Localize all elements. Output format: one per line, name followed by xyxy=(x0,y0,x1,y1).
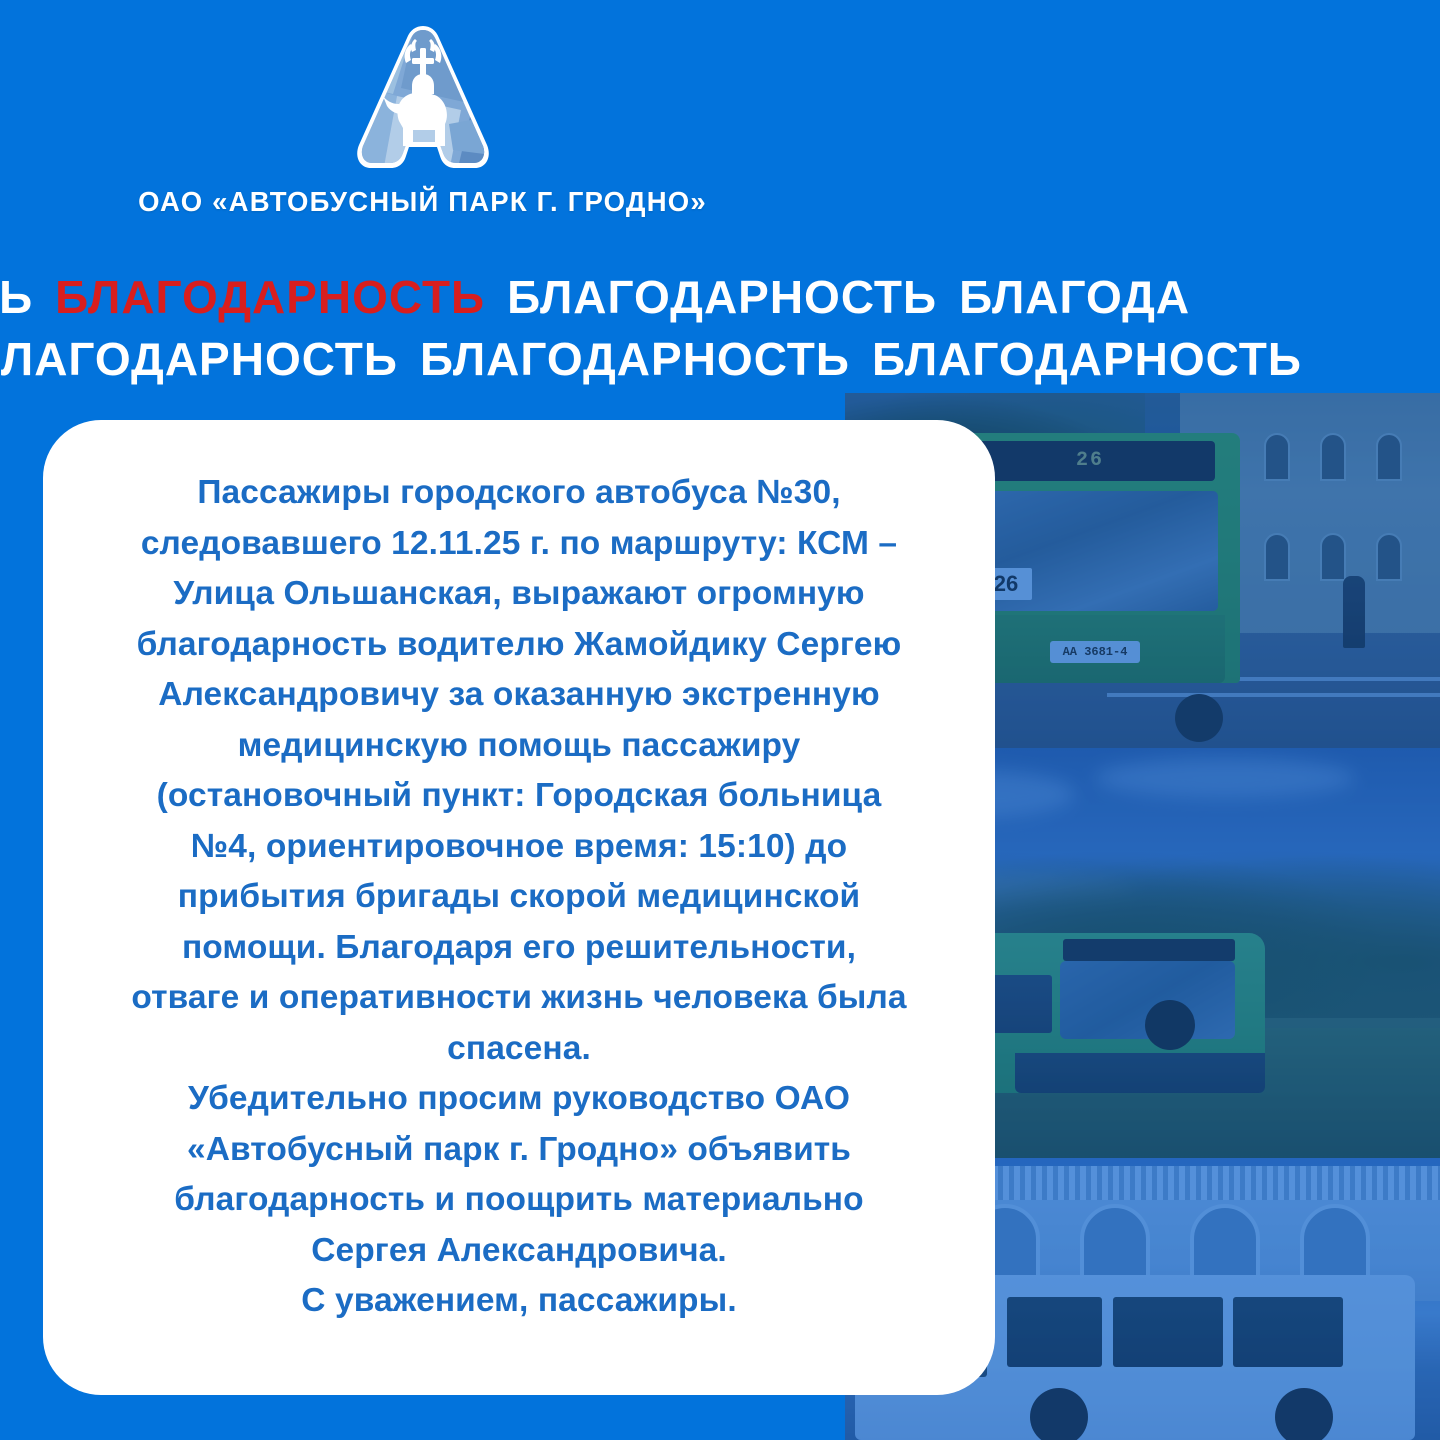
message-line: Убедительно просим руководство ОАО xyxy=(95,1074,943,1125)
banner-word-highlighted: БЛАГОДАРНОСТЬ xyxy=(55,271,485,323)
message-line: благодарность и поощрить материально xyxy=(95,1175,943,1226)
message-line: прибытия бригады скорой медицинской xyxy=(95,872,943,923)
message-line: (остановочный пункт: Городская больница xyxy=(95,771,943,822)
message-text: Пассажиры городского автобуса №30, следо… xyxy=(95,468,943,1327)
company-name: ОАО «АВТОБУСНЫЙ ПАРК Г. ГРОДНО» xyxy=(138,186,707,218)
bus-wheel xyxy=(1145,1000,1195,1050)
banner-word: БЛАГОДАРНОСТЬ xyxy=(420,333,850,385)
bus-license-plate: АА 3681-4 xyxy=(1050,641,1140,663)
message-line: благодарность водителю Жамойдику Сергею xyxy=(95,620,943,671)
banner-word: БЛАГОДА xyxy=(959,271,1190,323)
banner-marquee: АРНОСТЬБЛАГОДАРНОСТЬБЛАГОДАРНОСТЬБЛАГОДА… xyxy=(0,266,1440,390)
bus-side-window xyxy=(1007,1297,1102,1367)
banner-word: БЛАГОДАРНОСТЬ xyxy=(507,271,937,323)
message-line: спасена. xyxy=(95,1024,943,1075)
message-line: Сергея Александровича. xyxy=(95,1226,943,1277)
bus-wheel xyxy=(1275,1388,1333,1440)
message-line: помощи. Благодаря его решительности, xyxy=(95,923,943,974)
banner-row-2: БЛАГОДАРНОСТЬБЛАГОДАРНОСТЬБЛАГОДАРНОСТЬ xyxy=(0,328,1440,390)
bus-wheel xyxy=(1030,1388,1088,1440)
message-line: медицинскую помощь пассажиру xyxy=(95,721,943,772)
message-line: Пассажиры городского автобуса №30, xyxy=(95,468,943,519)
header: ОАО «АВТОБУСНЫЙ ПАРК Г. ГРОДНО» xyxy=(0,0,845,240)
bus-destination-sign xyxy=(1063,939,1235,961)
message-card: Пассажиры городского автобуса №30, следо… xyxy=(43,420,995,1395)
message-line: отваге и оперативности жизнь человека бы… xyxy=(95,973,943,1024)
message-line: Улица Ольшанская, выражают огромную xyxy=(95,569,943,620)
logo-letter-a-with-deer-icon xyxy=(353,24,493,172)
bus-side-window xyxy=(1113,1297,1223,1367)
bus-destination-sign: 26 xyxy=(965,441,1215,481)
message-line: следовавшего 12.11.25 г. по маршруту: КС… xyxy=(95,519,943,570)
banner-word: АРНОСТЬ xyxy=(0,271,33,323)
bus-bumper xyxy=(1015,1053,1265,1093)
bus-wheel xyxy=(1175,694,1223,742)
banner-word: БЛАГОДАРНОСТЬ xyxy=(0,333,398,385)
banner-word: БЛАГОДАРНОСТЬ xyxy=(872,333,1302,385)
message-line: №4, ориентировочное время: 15:10) до xyxy=(95,822,943,873)
pedestrian xyxy=(1343,576,1365,648)
message-line: С уважением, пассажиры. xyxy=(95,1276,943,1327)
banner-row-1: АРНОСТЬБЛАГОДАРНОСТЬБЛАГОДАРНОСТЬБЛАГОДА xyxy=(0,266,1440,328)
bus-side-window xyxy=(1233,1297,1343,1367)
message-line: Александровичу за оказанную экстренную xyxy=(95,670,943,721)
message-line: «Автобусный парк г. Гродно» объявить xyxy=(95,1125,943,1176)
